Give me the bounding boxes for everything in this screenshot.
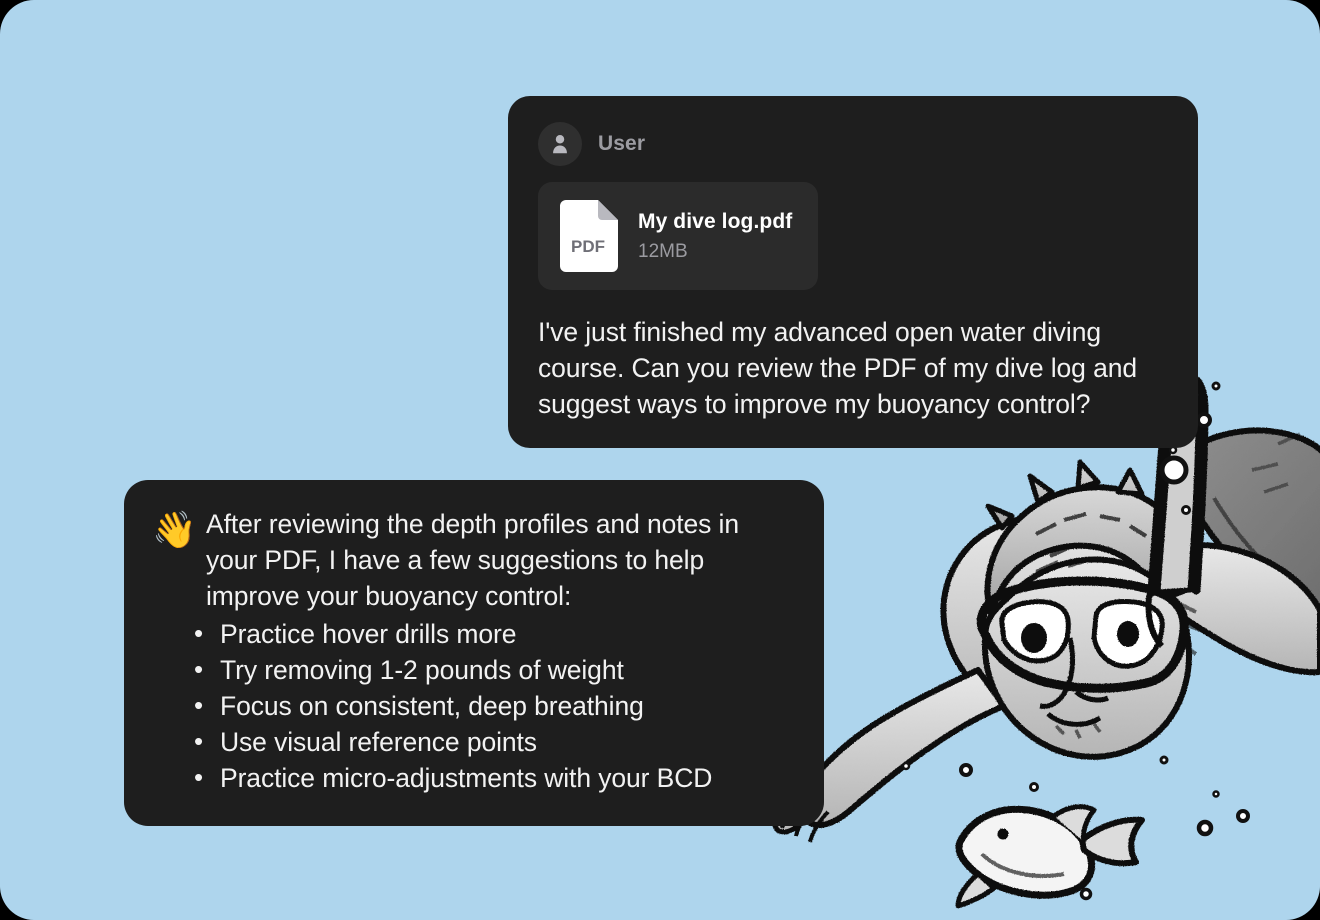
assistant-message-bubble: 👋 After reviewing the depth profiles and…: [124, 480, 824, 826]
list-item: Practice micro-adjustments with your BCD: [192, 760, 796, 796]
svg-text:PDF: PDF: [571, 237, 605, 256]
list-item: Practice hover drills more: [192, 616, 796, 652]
attachment-meta: My dive log.pdf 12MB: [638, 210, 792, 263]
list-item: Use visual reference points: [192, 724, 796, 760]
user-author-label: User: [598, 132, 645, 156]
user-message-text: I've just finished my advanced open wate…: [538, 314, 1170, 422]
fish-illustration: [958, 807, 1142, 906]
pdf-file-icon: PDF: [560, 200, 618, 272]
assistant-paragraph: After reviewing the depth profiles and n…: [206, 506, 796, 614]
attachment-file-size: 12MB: [638, 241, 792, 263]
screenshot-canvas: User PDF My dive log.pdf 12MB I've just …: [0, 0, 1320, 920]
user-message-header: User: [538, 122, 1170, 166]
suggestions-list: Practice hover drills more Try removing …: [152, 616, 796, 796]
list-item: Focus on consistent, deep breathing: [192, 688, 796, 724]
person-avatar-icon: [538, 122, 582, 166]
attachment-file-name: My dive log.pdf: [638, 210, 792, 234]
waving-hand-emoji: 👋: [152, 512, 206, 548]
assistant-intro-row: 👋 After reviewing the depth profiles and…: [152, 506, 796, 614]
list-item: Try removing 1-2 pounds of weight: [192, 652, 796, 688]
air-bubbles: [903, 383, 1248, 899]
user-message-bubble: User PDF My dive log.pdf 12MB I've just …: [508, 96, 1198, 448]
pdf-attachment-chip[interactable]: PDF My dive log.pdf 12MB: [538, 182, 818, 290]
